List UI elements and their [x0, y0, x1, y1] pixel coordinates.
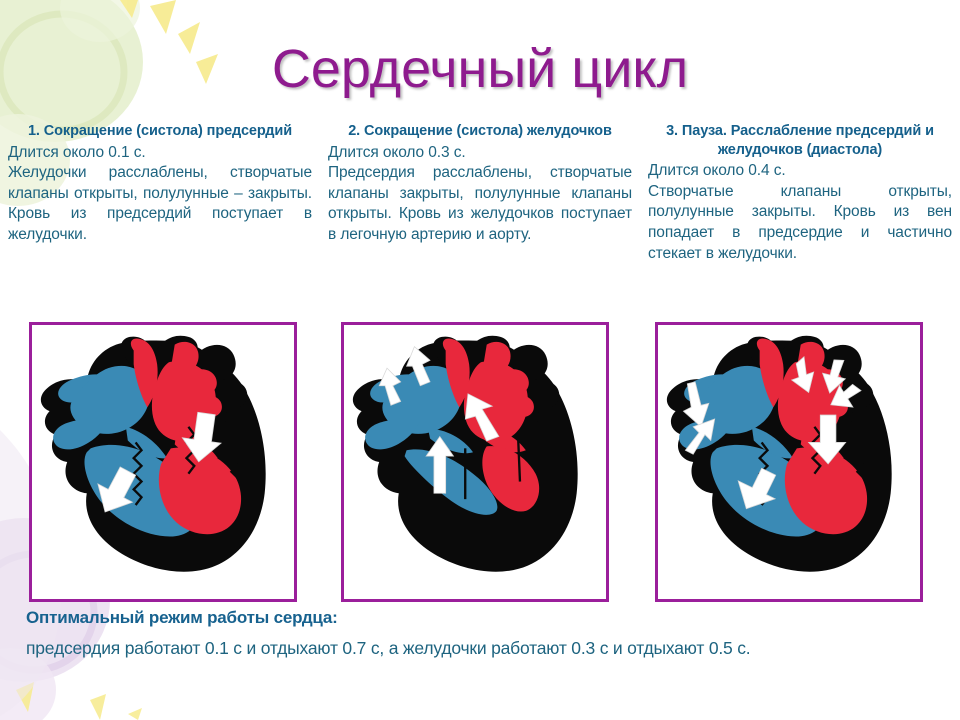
heart-diagram-panels: [0, 322, 960, 604]
phase-1-body: Длится около 0.1 с.Желудочки расслаблены…: [8, 143, 312, 246]
heart-diagram-panel-2: [341, 322, 609, 602]
heart-diagram-atrial-systole-svg: [32, 325, 294, 599]
phase-1-duration: Длится около 0.1 с.: [8, 143, 312, 164]
footer-body: предсердия работают 0.1 с и отдыхают 0.7…: [26, 636, 936, 661]
phase-column-3: 3. Пауза. Расслабление предсердий и желу…: [640, 122, 960, 264]
phase-2-body: Длится около 0.3 с.Предсердия расслаблен…: [328, 143, 632, 246]
phase-3-body: Длится около 0.4 с.Створчатые клапаны от…: [648, 161, 952, 264]
page-title: Сердечный цикл: [0, 38, 960, 100]
phase-2-heading: 2. Сокращение (систола) желудочков: [328, 122, 632, 141]
phase-3-description: Створчатые клапаны открыты, полулунные з…: [648, 183, 952, 262]
phase-3-heading: 3. Пауза. Расслабление предсердий и желу…: [648, 122, 952, 159]
phase-columns: 1. Сокращение (систола) предсердий Длитс…: [0, 122, 960, 264]
phase-column-2: 2. Сокращение (систола) желудочков Длитс…: [320, 122, 640, 264]
phase-column-1: 1. Сокращение (систола) предсердий Длитс…: [0, 122, 320, 264]
decor-green-bubble-tiny: [60, 0, 140, 42]
footer-block: Оптимальный режим работы сердца: предсер…: [26, 608, 936, 661]
heart-diagram-ventricular-systole-svg: [344, 325, 606, 599]
heart-diagram-panel-1: [29, 322, 297, 602]
phase-3-duration: Длится около 0.4 с.: [648, 161, 952, 182]
phase-1-heading: 1. Сокращение (систола) предсердий: [8, 122, 312, 141]
phase-1-description: Желудочки расслаблены, створчатые клапан…: [8, 164, 312, 243]
footer-heading: Оптимальный режим работы сердца:: [26, 608, 936, 628]
phase-2-duration: Длится около 0.3 с.: [328, 143, 632, 164]
phase-2-description: Предсердия расслаблены, створчатые клапа…: [328, 164, 632, 243]
heart-diagram-panel-3: [655, 322, 923, 602]
heart-diagram-diastole-svg: [658, 325, 920, 599]
